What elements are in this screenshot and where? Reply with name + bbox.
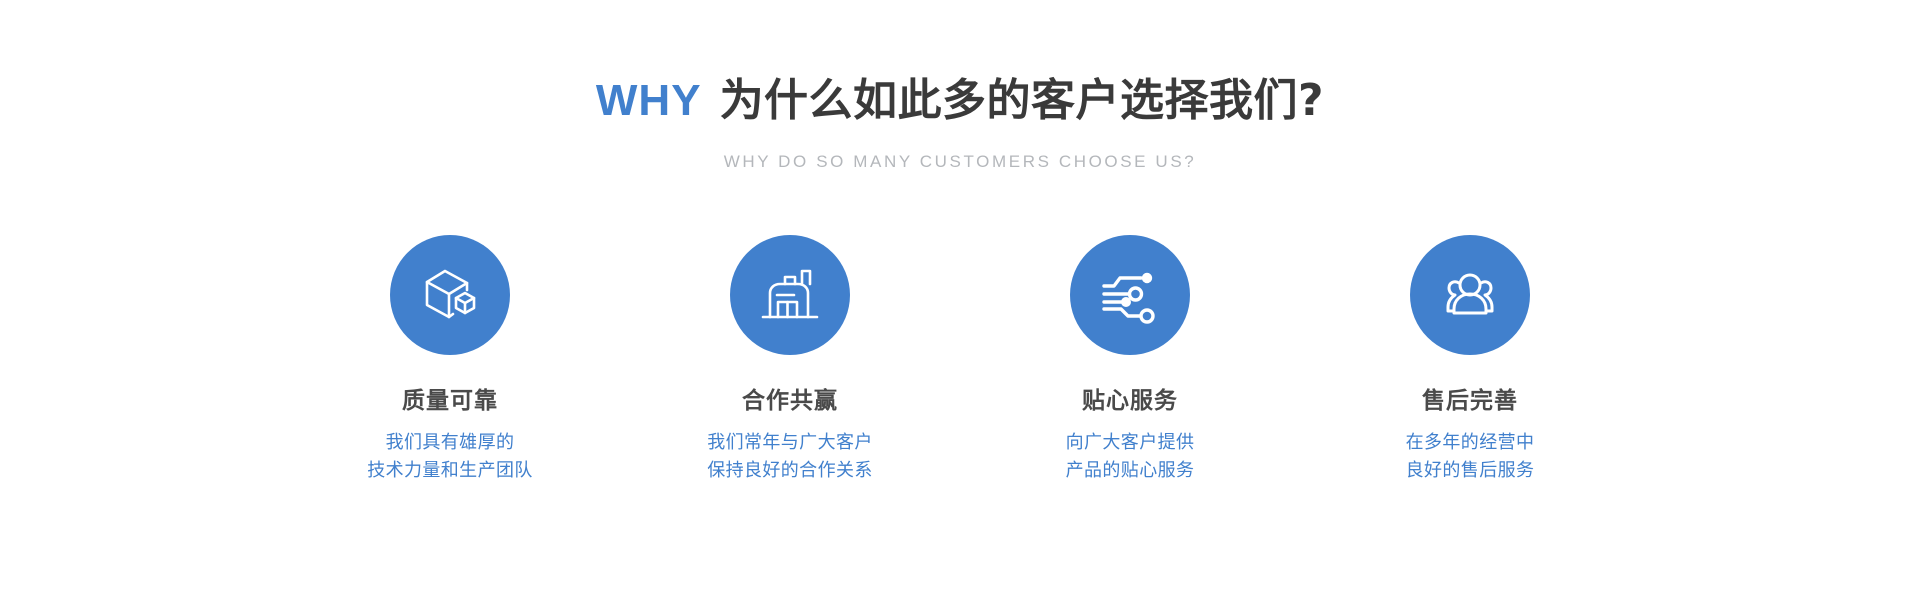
title-chinese: 为什么如此多的客户选择我们? (720, 75, 1325, 126)
feature-desc-line-1: 在多年的经营中 (1406, 429, 1535, 457)
feature-icon-circle (390, 235, 510, 355)
feature-desc-line-2: 产品的贴心服务 (1066, 457, 1195, 485)
feature-description: 在多年的经营中 良好的售后服务 (1406, 429, 1535, 485)
feature-description: 向广大客户提供 产品的贴心服务 (1066, 429, 1195, 485)
feature-item-service[interactable]: 贴心服务 向广大客户提供 产品的贴心服务 (980, 235, 1280, 485)
feature-description: 我们具有雄厚的 技术力量和生产团队 (367, 429, 533, 485)
heading-block: WHY为什么如此多的客户选择我们? WHY DO SO MANY CUSTOME… (0, 76, 1920, 172)
feature-icon-circle (1410, 235, 1530, 355)
users-group-icon (1436, 261, 1504, 329)
feature-desc-line-1: 我们常年与广大客户 (707, 429, 873, 457)
feature-desc-line-2: 保持良好的合作关系 (707, 457, 873, 485)
why-choose-us-section: WHY为什么如此多的客户选择我们? WHY DO SO MANY CUSTOME… (0, 0, 1920, 615)
feature-title: 质量可靠 (402, 388, 498, 416)
feature-icon-circle (730, 235, 850, 355)
title-accent-why: WHY (596, 76, 702, 125)
feature-item-quality[interactable]: 质量可靠 我们具有雄厚的 技术力量和生产团队 (300, 235, 600, 485)
package-box-icon (417, 262, 483, 328)
page-subtitle: WHY DO SO MANY CUSTOMERS CHOOSE US? (0, 152, 1920, 172)
feature-desc-line-2: 良好的售后服务 (1406, 457, 1535, 485)
feature-desc-line-1: 我们具有雄厚的 (367, 429, 533, 457)
feature-item-cooperation[interactable]: 合作共赢 我们常年与广大客户 保持良好的合作关系 (640, 235, 940, 485)
page-title: WHY为什么如此多的客户选择我们? (0, 76, 1920, 127)
factory-icon (757, 262, 823, 328)
feature-description: 我们常年与广大客户 保持良好的合作关系 (707, 429, 873, 485)
feature-title: 售后完善 (1422, 388, 1518, 416)
feature-desc-line-1: 向广大客户提供 (1066, 429, 1195, 457)
feature-title: 合作共赢 (742, 388, 838, 416)
feature-desc-line-2: 技术力量和生产团队 (367, 457, 533, 485)
feature-item-aftersales[interactable]: 售后完善 在多年的经营中 良好的售后服务 (1320, 235, 1620, 485)
feature-icon-circle (1070, 235, 1190, 355)
feature-title: 贴心服务 (1082, 388, 1178, 416)
feature-list: 质量可靠 我们具有雄厚的 技术力量和生产团队 (300, 235, 1620, 485)
circuit-network-icon (1097, 262, 1163, 328)
